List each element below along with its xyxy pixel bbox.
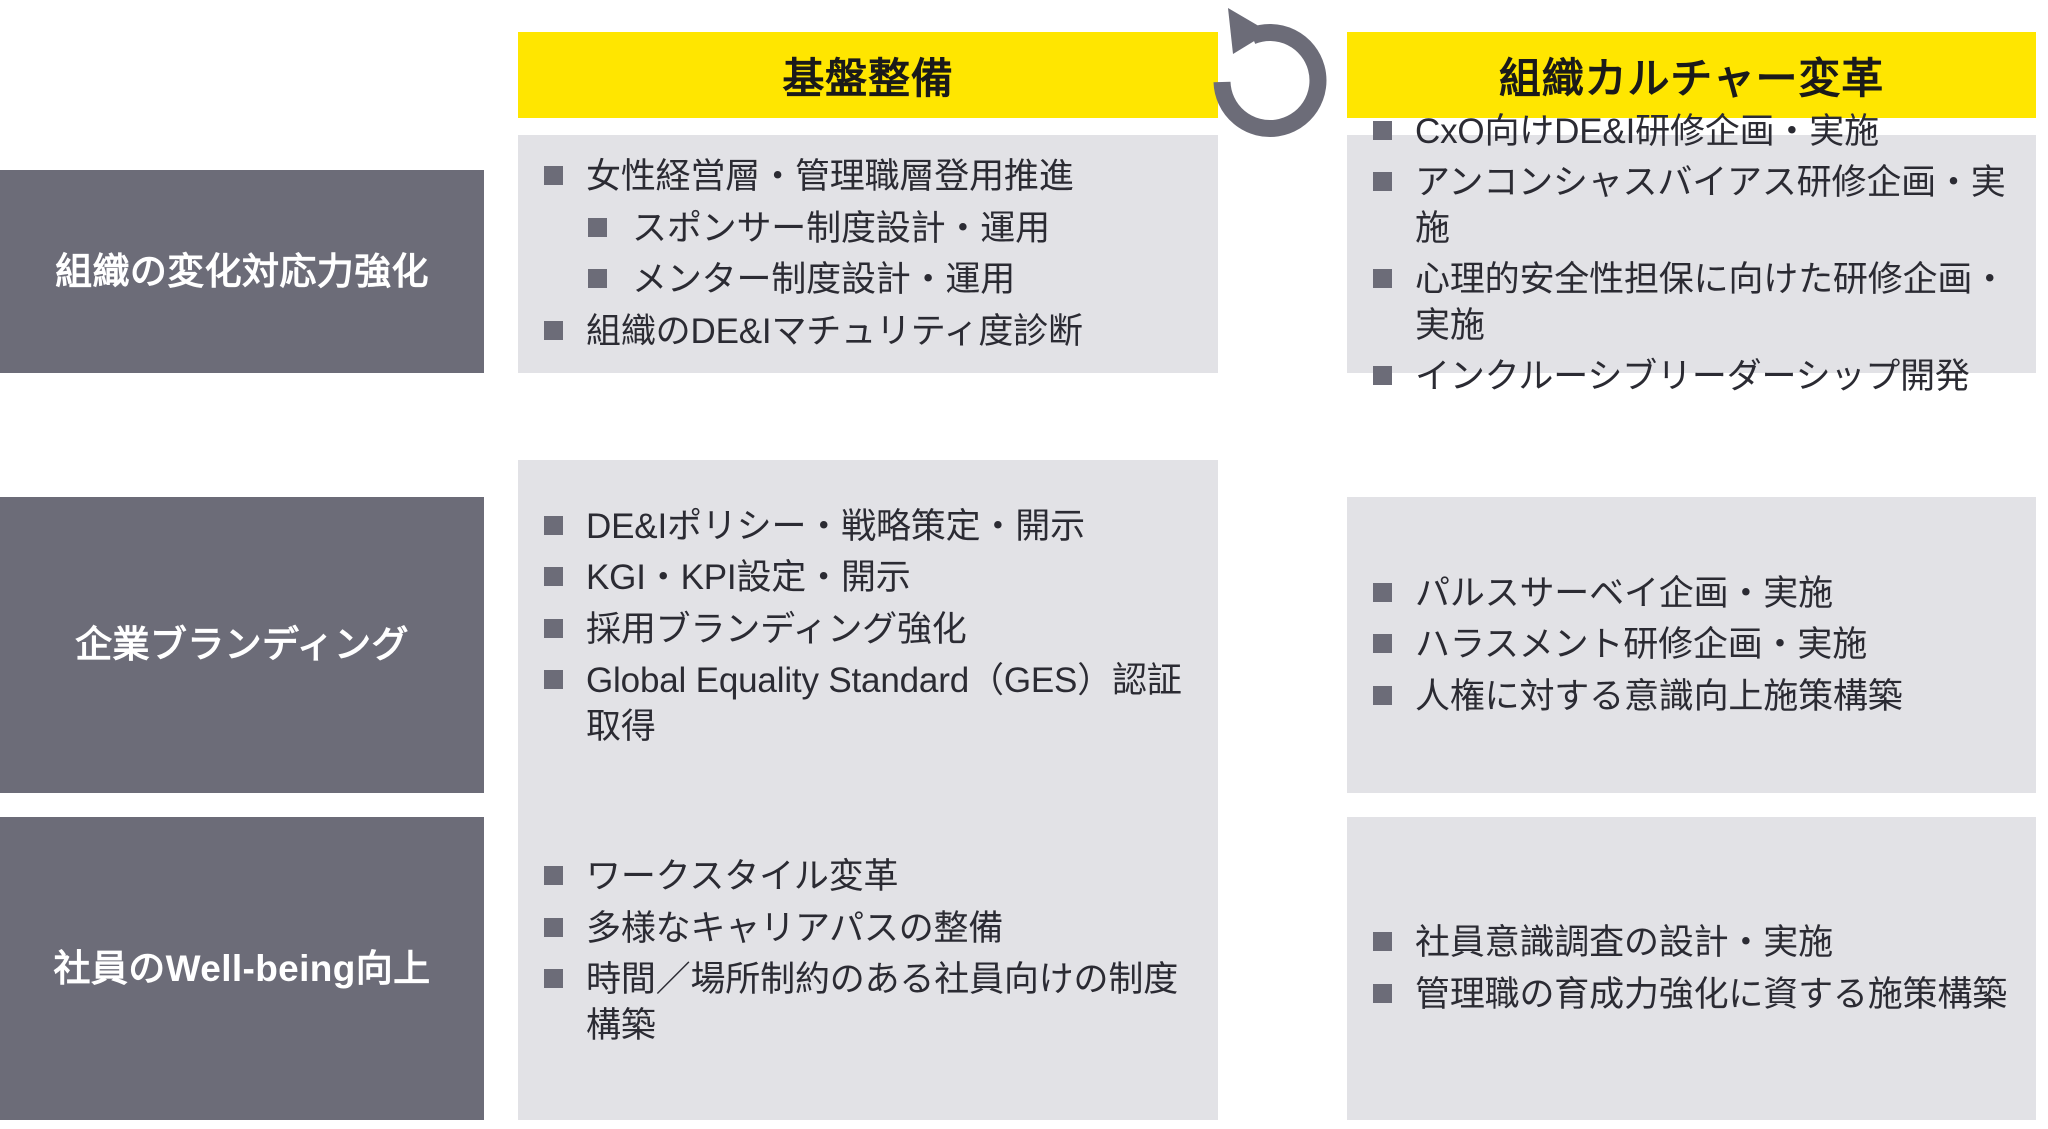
bullet-square-icon bbox=[544, 866, 563, 885]
list-item: 採用ブランディング強化 bbox=[536, 607, 1204, 653]
list-item: メンター制度設計・運用 bbox=[536, 257, 1204, 303]
list-item-label: 心理的安全性担保に向けた研修企画・実施 bbox=[1415, 260, 2007, 345]
panel-row1-foundation: 女性経営層・管理職層登用推進 スポンサー制度設計・運用 メンター制度設計・運用 … bbox=[518, 135, 1218, 373]
bullet-square-icon bbox=[1373, 686, 1392, 705]
bullet-list: パルスサーベイ企画・実施 ハラスメント研修企画・実施 人権に対する意識向上施策構… bbox=[1365, 571, 2022, 720]
list-item-label: 社員意識調査の設計・実施 bbox=[1415, 923, 1833, 962]
bullet-square-icon bbox=[1373, 172, 1392, 191]
bullet-square-icon bbox=[1373, 984, 1392, 1003]
panel-row2-culture: パルスサーベイ企画・実施 ハラスメント研修企画・実施 人権に対する意識向上施策構… bbox=[1347, 497, 2036, 793]
column-header-foundation: 基盤整備 bbox=[518, 32, 1218, 118]
bullet-list: 女性経営層・管理職層登用推進 スポンサー制度設計・運用 メンター制度設計・運用 … bbox=[536, 154, 1204, 354]
row-label-organizational-adaptability: 組織の変化対応力強化 bbox=[0, 170, 484, 373]
list-item-label: KGI・KPI設定・開示 bbox=[586, 558, 911, 597]
list-item-label: 人権に対する意識向上施策構築 bbox=[1415, 677, 1903, 716]
list-item: 管理職の育成力強化に資する施策構築 bbox=[1365, 972, 2022, 1018]
panel-row3-culture: 社員意識調査の設計・実施 管理職の育成力強化に資する施策構築 bbox=[1347, 817, 2036, 1120]
bullet-list: 社員意識調査の設計・実施 管理職の育成力強化に資する施策構築 bbox=[1365, 920, 2022, 1017]
list-item: DE&Iポリシー・戦略策定・開示 bbox=[536, 504, 1204, 550]
bullet-square-icon bbox=[544, 567, 563, 586]
list-item: インクルーシブリーダーシップ開発 bbox=[1365, 354, 2022, 400]
bullet-list: DE&Iポリシー・戦略策定・開示 KGI・KPI設定・開示 採用ブランディング強… bbox=[536, 504, 1204, 750]
list-item-label: CxO向けDE&I研修企画・実施 bbox=[1415, 112, 1879, 151]
bullet-square-icon bbox=[1373, 634, 1392, 653]
panel-row3-foundation: ワークスタイル変革 多様なキャリアパスの整備 時間／場所制約のある社員向けの制度… bbox=[518, 782, 1218, 1120]
row-label-employee-wellbeing: 社員のWell-being向上 bbox=[0, 817, 484, 1120]
circular-arrow-icon bbox=[1190, 2, 1350, 150]
list-item: パルスサーベイ企画・実施 bbox=[1365, 571, 2022, 617]
bullet-list: ワークスタイル変革 多様なキャリアパスの整備 時間／場所制約のある社員向けの制度… bbox=[536, 854, 1204, 1048]
list-item: ワークスタイル変革 bbox=[536, 854, 1204, 900]
list-item: 心理的安全性担保に向けた研修企画・実施 bbox=[1365, 257, 2022, 348]
list-item-label: パルスサーベイ企画・実施 bbox=[1415, 574, 1833, 613]
bullet-square-icon bbox=[1373, 932, 1392, 951]
panel-row1-culture: CxO向けDE&I研修企画・実施 アンコンシャスバイアス研修企画・実施 心理的安… bbox=[1347, 135, 2036, 373]
bullet-square-icon bbox=[544, 619, 563, 638]
list-item: 社員意識調査の設計・実施 bbox=[1365, 920, 2022, 966]
panel-row2-foundation: DE&Iポリシー・戦略策定・開示 KGI・KPI設定・開示 採用ブランディング強… bbox=[518, 460, 1218, 793]
list-item-label: ワークスタイル変革 bbox=[586, 857, 898, 896]
bullet-square-icon bbox=[544, 321, 563, 340]
bullet-square-icon bbox=[544, 166, 563, 185]
list-item-label: 時間／場所制約のある社員向けの制度構築 bbox=[586, 960, 1178, 1045]
list-item-label: インクルーシブリーダーシップ開発 bbox=[1415, 357, 1970, 396]
list-item: 女性経営層・管理職層登用推進 bbox=[536, 154, 1204, 200]
list-item-label: 組織のDE&Iマチュリティ度診断 bbox=[586, 312, 1083, 351]
list-item-label: スポンサー制度設計・運用 bbox=[632, 209, 1050, 248]
list-item: CxO向けDE&I研修企画・実施 bbox=[1365, 109, 2022, 155]
row-label-corporate-branding: 企業ブランディング bbox=[0, 497, 484, 793]
list-item-label: DE&Iポリシー・戦略策定・開示 bbox=[586, 507, 1085, 546]
bullet-square-icon bbox=[588, 269, 607, 288]
list-item: 時間／場所制約のある社員向けの制度構築 bbox=[536, 957, 1204, 1048]
bullet-square-icon bbox=[544, 516, 563, 535]
list-item-label: 採用ブランディング強化 bbox=[586, 610, 967, 649]
bullet-square-icon bbox=[1373, 366, 1392, 385]
list-item: KGI・KPI設定・開示 bbox=[536, 555, 1204, 601]
bullet-square-icon bbox=[1373, 269, 1392, 288]
bullet-list: CxO向けDE&I研修企画・実施 アンコンシャスバイアス研修企画・実施 心理的安… bbox=[1365, 109, 2022, 400]
list-item: アンコンシャスバイアス研修企画・実施 bbox=[1365, 160, 2022, 251]
bullet-square-icon bbox=[544, 918, 563, 937]
list-item-label: 女性経営層・管理職層登用推進 bbox=[586, 157, 1074, 196]
bullet-square-icon bbox=[1373, 583, 1392, 602]
list-item-label: 多様なキャリアパスの整備 bbox=[586, 909, 1003, 948]
column-header-culture: 組織カルチャー変革 bbox=[1347, 32, 2036, 118]
list-item: 人権に対する意識向上施策構築 bbox=[1365, 674, 2022, 720]
list-item: スポンサー制度設計・運用 bbox=[536, 206, 1204, 252]
list-item: 多様なキャリアパスの整備 bbox=[536, 906, 1204, 952]
slide-canvas: 基盤整備 組織カルチャー変革 組織の変化対応力強化 女性経営層・管理職層登用推進… bbox=[0, 0, 2048, 1129]
list-item-label: メンター制度設計・運用 bbox=[632, 260, 1015, 299]
list-item: ハラスメント研修企画・実施 bbox=[1365, 622, 2022, 668]
bullet-square-icon bbox=[1373, 121, 1392, 140]
bullet-square-icon bbox=[544, 969, 563, 988]
list-item-label: アンコンシャスバイアス研修企画・実施 bbox=[1415, 163, 2006, 248]
bullet-square-icon bbox=[588, 218, 607, 237]
list-item-label: 管理職の育成力強化に資する施策構築 bbox=[1415, 975, 2007, 1014]
list-item-label: ハラスメント研修企画・実施 bbox=[1415, 625, 1867, 664]
list-item-label: Global Equality Standard（GES）認証取得 bbox=[586, 661, 1182, 746]
list-item: Global Equality Standard（GES）認証取得 bbox=[536, 658, 1204, 749]
list-item: 組織のDE&Iマチュリティ度診断 bbox=[536, 309, 1204, 355]
bullet-square-icon bbox=[544, 670, 563, 689]
